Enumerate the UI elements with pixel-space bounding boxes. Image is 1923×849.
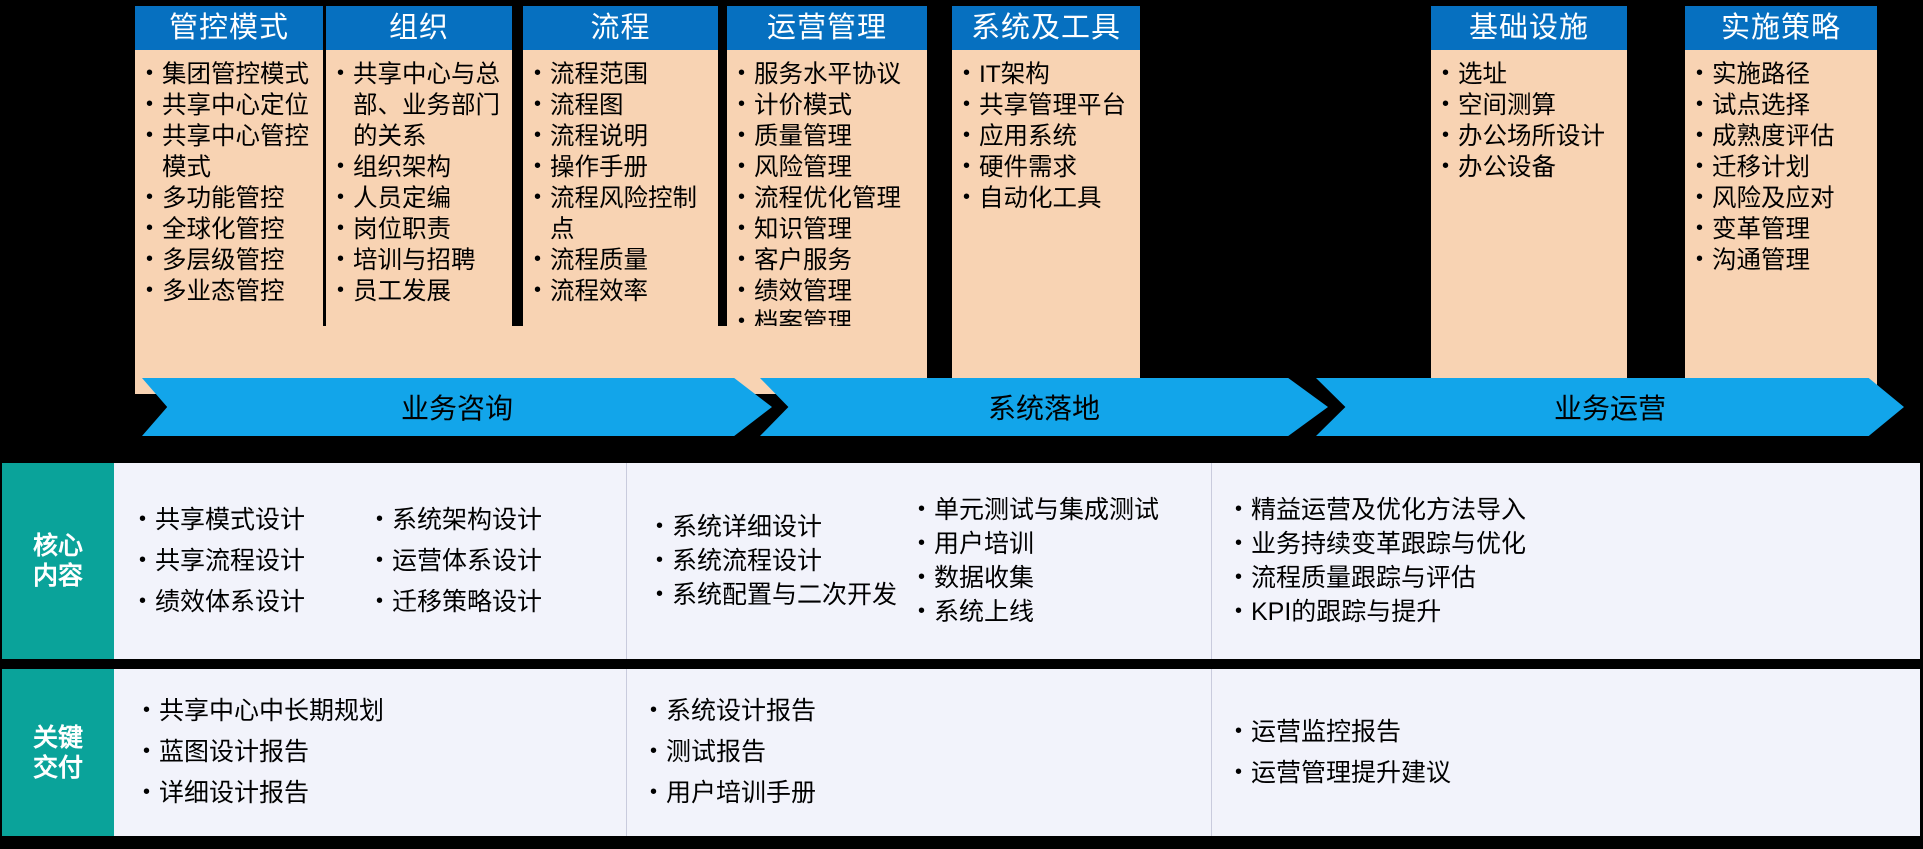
- matrix-item: 系统详细设计: [655, 510, 897, 544]
- matrix-subcol: 单元测试与集成测试 用户培训 数据收集 系统上线: [911, 493, 1165, 629]
- pillar-item: 客户服务: [737, 245, 921, 276]
- pillar-item: 知识管理: [737, 214, 921, 245]
- pillar-item: 流程效率: [533, 276, 712, 307]
- pillar-item: 办公设备: [1441, 152, 1621, 183]
- pillar-item: 绩效管理: [737, 276, 921, 307]
- pillar-item-continuation: 模式: [145, 152, 317, 183]
- row-body-core: 共享模式设计 共享流程设计 绩效体系设计 系统架构设计 运营体系设计 迁移策略设…: [114, 463, 1920, 659]
- pillar-item: 实施路径: [1695, 59, 1871, 90]
- pillar-item: 变革管理: [1695, 214, 1871, 245]
- pillar-card-2[interactable]: 组织 共享中心与总 部、业务部门 的关系 组织架构 人员定编 岗位职责 培训与招…: [326, 6, 512, 370]
- pillar-body-1: 集团管控模式 共享中心定位 共享中心管控 模式 多功能管控 全球化管控 多层级管…: [135, 50, 323, 370]
- row-label-deliverables-line1: 关键: [33, 723, 83, 753]
- pillar-item: 应用系统: [962, 121, 1134, 152]
- pillar-item: 岗位职责: [336, 214, 506, 245]
- matrix-item: 业务持续变革跟踪与优化: [1234, 527, 1526, 561]
- matrix-cell-core-consulting: 共享模式设计 共享流程设计 绩效体系设计 系统架构设计 运营体系设计 迁移策略设…: [114, 463, 626, 659]
- pillar-item: 自动化工具: [962, 183, 1134, 214]
- matrix-item: 用户培训: [917, 527, 1159, 561]
- pillar-item: 质量管理: [737, 121, 921, 152]
- matrix-item: 测试报告: [649, 732, 816, 773]
- matrix-item: KPI的跟踪与提升: [1234, 595, 1526, 629]
- matrix-item: 绩效体系设计: [138, 582, 305, 623]
- pillar-item: 硬件需求: [962, 152, 1134, 183]
- pillar-item: 员工发展: [336, 276, 506, 307]
- pillar-item: 空间测算: [1441, 90, 1621, 121]
- pillar-title-5: 系统及工具: [952, 6, 1140, 50]
- matrix-row-core: 核心 内容 共享模式设计 共享流程设计 绩效体系设计 系统架构设计: [2, 463, 1920, 659]
- pillar-item: 多层级管控: [145, 245, 317, 276]
- matrix-item: 蓝图设计报告: [142, 732, 384, 773]
- pillar-item: 风险及应对: [1695, 183, 1871, 214]
- matrix-item: 数据收集: [917, 561, 1159, 595]
- pillar-item: IT架构: [962, 59, 1134, 90]
- pillar-list-1: 集团管控模式 共享中心定位 共享中心管控 模式 多功能管控 全球化管控 多层级管…: [135, 59, 323, 307]
- matrix-list: 共享模式设计 共享流程设计 绩效体系设计: [138, 500, 305, 623]
- matrix-item: 系统上线: [917, 595, 1159, 629]
- pillar-item: 全球化管控: [145, 214, 317, 245]
- pillar-item: 试点选择: [1695, 90, 1871, 121]
- pillar-item: 操作手册: [533, 152, 712, 183]
- pillar-card-3[interactable]: 流程 流程范围 流程图 流程说明 操作手册 流程风险控制 点 流程质量 流程效率: [523, 6, 718, 370]
- matrix-item: 运营管理提升建议: [1234, 753, 1451, 794]
- pillar-card-1[interactable]: 管控模式 集团管控模式 共享中心定位 共享中心管控 模式 多功能管控 全球化管控…: [135, 6, 323, 370]
- deliverable-matrix: 核心 内容 共享模式设计 共享流程设计 绩效体系设计 系统架构设计: [0, 453, 1923, 849]
- pillar-title-3: 流程: [523, 6, 718, 50]
- matrix-cell-deliv-system: 系统设计报告 测试报告 用户培训手册: [626, 669, 1211, 836]
- pillar-item: 流程优化管理: [737, 183, 921, 214]
- pillar-item-continuation: 点: [533, 214, 712, 245]
- matrix-list: 系统架构设计 运营体系设计 迁移策略设计: [375, 500, 542, 623]
- row-body-deliverables: 共享中心中长期规划 蓝图设计报告 详细设计报告 系统设计报告 测试报告 用户培训…: [114, 669, 1920, 836]
- pillar-body-4: 服务水平协议 计价模式 质量管理 风险管理 流程优化管理 知识管理 客户服务 绩…: [727, 50, 927, 370]
- matrix-item: 迁移策略设计: [375, 582, 542, 623]
- pillar-list-7: 实施路径 试点选择 成熟度评估 迁移计划 风险及应对 变革管理 沟通管理: [1685, 59, 1877, 276]
- pillar-item: 共享管理平台: [962, 90, 1134, 121]
- pillar-list-5: IT架构 共享管理平台 应用系统 硬件需求 自动化工具: [952, 59, 1140, 214]
- matrix-item: 运营监控报告: [1234, 712, 1451, 753]
- matrix-list: 精益运营及优化方法导入 业务持续变革跟踪与优化 流程质量跟踪与评估 KPI的跟踪…: [1234, 493, 1526, 629]
- pillar-item: 组织架构: [336, 152, 506, 183]
- pillar-item: 办公场所设计: [1441, 121, 1621, 152]
- matrix-item: 系统配置与二次开发: [655, 578, 897, 612]
- phase-arrow-band: 业务咨询 系统落地 业务运营: [0, 378, 1923, 440]
- pillar-item: 计价模式: [737, 90, 921, 121]
- matrix-subcol: 共享模式设计 共享流程设计 绩效体系设计: [132, 500, 311, 623]
- pillar-item: 共享中心管控: [145, 121, 317, 152]
- pillar-item: 流程图: [533, 90, 712, 121]
- pillar-item: 沟通管理: [1695, 245, 1871, 276]
- pillar-list-6: 选址 空间测算 办公场所设计 办公设备: [1431, 59, 1627, 183]
- phase-arrow-1[interactable]: 业务咨询: [142, 378, 772, 436]
- pillar-body-3: 流程范围 流程图 流程说明 操作手册 流程风险控制 点 流程质量 流程效率: [523, 50, 718, 370]
- matrix-item: 系统架构设计: [375, 500, 542, 541]
- pillar-title-4: 运营管理: [727, 6, 927, 50]
- pillar-item: 共享中心定位: [145, 90, 317, 121]
- matrix-item: 共享流程设计: [138, 541, 305, 582]
- pillar-item: 集团管控模式: [145, 59, 317, 90]
- pillar-item: 多业态管控: [145, 276, 317, 307]
- phase-arrow-2[interactable]: 系统落地: [760, 378, 1328, 436]
- pillar-item: 流程范围: [533, 59, 712, 90]
- matrix-list: 运营监控报告 运营管理提升建议: [1234, 712, 1451, 794]
- pillar-item: 人员定编: [336, 183, 506, 214]
- matrix-list: 系统详细设计 系统流程设计 系统配置与二次开发: [655, 510, 897, 612]
- pillar-item: 多功能管控: [145, 183, 317, 214]
- matrix-cell-deliv-operations: 运营监控报告 运营管理提升建议: [1211, 669, 1919, 836]
- matrix-item: 系统流程设计: [655, 544, 897, 578]
- row-label-core-line2: 内容: [33, 561, 83, 591]
- pillar-card-5[interactable]: 系统及工具 IT架构 共享管理平台 应用系统 硬件需求 自动化工具: [952, 6, 1140, 370]
- pillar-list-3: 流程范围 流程图 流程说明 操作手册 流程风险控制 点 流程质量 流程效率: [523, 59, 718, 307]
- pillar-item: 流程风险控制: [533, 183, 712, 214]
- matrix-item: 精益运营及优化方法导入: [1234, 493, 1526, 527]
- phase-label-1: 业务咨询: [401, 387, 513, 427]
- pillar-title-6: 基础设施: [1431, 6, 1627, 50]
- phase-label-3: 业务运营: [1554, 387, 1666, 427]
- matrix-item: 用户培训手册: [649, 773, 816, 814]
- pillar-card-4[interactable]: 运营管理 服务水平协议 计价模式 质量管理 风险管理 流程优化管理 知识管理 客…: [727, 6, 927, 370]
- pillar-card-7[interactable]: 实施策略 实施路径 试点选择 成熟度评估 迁移计划 风险及应对 变革管理 沟通管…: [1685, 6, 1877, 370]
- row-label-deliverables-line2: 交付: [33, 753, 83, 783]
- matrix-list: 单元测试与集成测试 用户培训 数据收集 系统上线: [917, 493, 1159, 629]
- matrix-row-deliverables: 关键 交付 共享中心中长期规划 蓝图设计报告 详细设计报告 系统设计报告 测试报…: [2, 669, 1920, 836]
- slide-canvas: 管控模式 集团管控模式 共享中心定位 共享中心管控 模式 多功能管控 全球化管控…: [0, 0, 1923, 849]
- pillar-item: 选址: [1441, 59, 1621, 90]
- matrix-item: 运营体系设计: [375, 541, 542, 582]
- pillar-list-4: 服务水平协议 计价模式 质量管理 风险管理 流程优化管理 知识管理 客户服务 绩…: [727, 59, 927, 338]
- row-label-core-line1: 核心: [33, 531, 83, 561]
- matrix-cell-core-system: 系统详细设计 系统流程设计 系统配置与二次开发 单元测试与集成测试 用户培训 数…: [626, 463, 1211, 659]
- pillar-title-1: 管控模式: [135, 6, 323, 50]
- matrix-cell-deliv-consulting: 共享中心中长期规划 蓝图设计报告 详细设计报告: [114, 669, 626, 836]
- row-label-deliverables: 关键 交付: [2, 669, 114, 836]
- matrix-item: 单元测试与集成测试: [917, 493, 1159, 527]
- matrix-item: 共享中心中长期规划: [142, 691, 384, 732]
- pillar-item: 迁移计划: [1695, 152, 1871, 183]
- pillar-body-7: 实施路径 试点选择 成熟度评估 迁移计划 风险及应对 变革管理 沟通管理: [1685, 50, 1877, 370]
- phase-label-2: 系统落地: [988, 387, 1100, 427]
- pillar-title-2: 组织: [326, 6, 512, 50]
- phase-arrow-3[interactable]: 业务运营: [1316, 378, 1904, 436]
- matrix-item: 详细设计报告: [142, 773, 384, 814]
- row-label-core: 核心 内容: [2, 463, 114, 659]
- pillar-title-7: 实施策略: [1685, 6, 1877, 50]
- pillar-item: 成熟度评估: [1695, 121, 1871, 152]
- pillar-item-continuation: 的关系: [336, 121, 506, 152]
- pillar-body-5: IT架构 共享管理平台 应用系统 硬件需求 自动化工具: [952, 50, 1140, 370]
- pillar-item: 流程说明: [533, 121, 712, 152]
- pillar-item: 流程质量: [533, 245, 712, 276]
- pillar-item: 培训与招聘: [336, 245, 506, 276]
- pillar-item-continuation: 部、业务部门: [336, 90, 506, 121]
- pillar-list-2: 共享中心与总 部、业务部门 的关系 组织架构 人员定编 岗位职责 培训与招聘 员…: [326, 59, 512, 307]
- pillar-body-2: 共享中心与总 部、业务部门 的关系 组织架构 人员定编 岗位职责 培训与招聘 员…: [326, 50, 512, 370]
- pillar-body-6: 选址 空间测算 办公场所设计 办公设备: [1431, 50, 1627, 370]
- matrix-item: 共享模式设计: [138, 500, 305, 541]
- matrix-item: 系统设计报告: [649, 691, 816, 732]
- matrix-item: 流程质量跟踪与评估: [1234, 561, 1526, 595]
- matrix-list: 共享中心中长期规划 蓝图设计报告 详细设计报告: [142, 691, 384, 814]
- matrix-subcol: 系统详细设计 系统流程设计 系统配置与二次开发: [649, 510, 903, 612]
- pillar-item: 共享中心与总: [336, 59, 506, 90]
- matrix-cell-core-operations: 精益运营及优化方法导入 业务持续变革跟踪与优化 流程质量跟踪与评估 KPI的跟踪…: [1211, 463, 1919, 659]
- pillar-item: 服务水平协议: [737, 59, 921, 90]
- pillar-card-6[interactable]: 基础设施 选址 空间测算 办公场所设计 办公设备: [1431, 6, 1627, 370]
- matrix-subcol: 系统架构设计 运营体系设计 迁移策略设计: [369, 500, 548, 623]
- pillar-item: 风险管理: [737, 152, 921, 183]
- matrix-list: 系统设计报告 测试报告 用户培训手册: [649, 691, 816, 814]
